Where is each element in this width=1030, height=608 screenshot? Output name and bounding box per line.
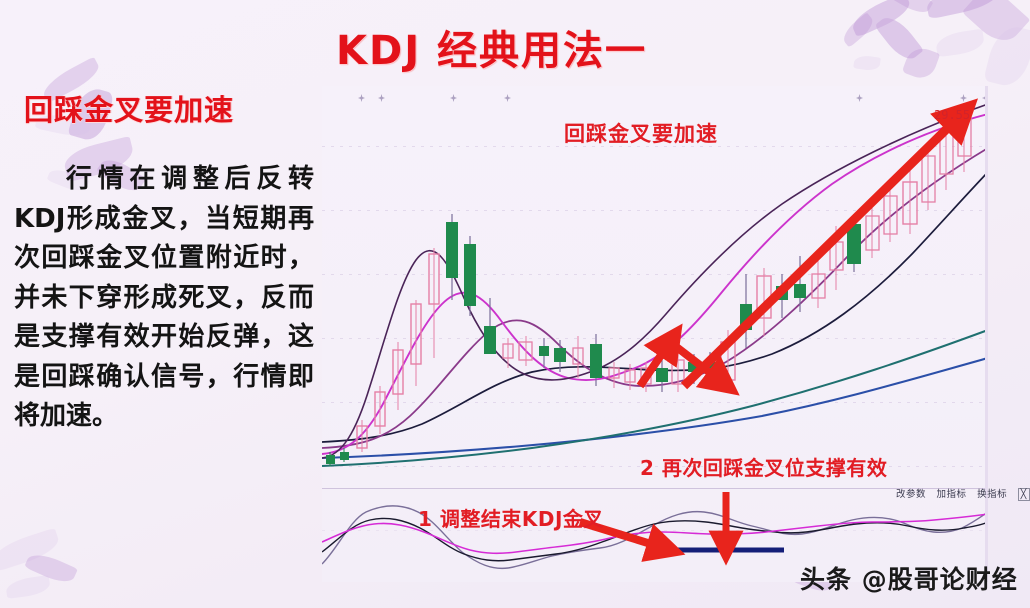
chart-toolbar[interactable]: 改参数 加指标 换指标 ╳	[896, 486, 1030, 500]
slide-root: KDJ 经典用法一 回踩金叉要加速 行情在调整后反转KDJ形成金叉，当短期再次回…	[0, 0, 1030, 608]
headline: 回踩金叉要加速	[24, 95, 314, 127]
watermark: 头条 @股哥论财经	[800, 560, 1018, 596]
annotation-1-label: 1 调整结束KDJ金叉	[418, 503, 604, 532]
pane-divider	[322, 488, 988, 489]
ma-line-ma30	[322, 172, 988, 442]
body-paragraph: 行情在调整后反转KDJ形成金叉，当短期再次回踩金叉位置附近时，并未下穿形成死叉，…	[14, 160, 314, 437]
floral-decoration-topright	[840, 0, 1030, 96]
page-title: KDJ 经典用法一	[336, 18, 647, 76]
ma-line-ma60	[322, 330, 988, 466]
change-params-button[interactable]: 改参数	[896, 489, 926, 500]
ma-line-ma20	[322, 148, 988, 448]
chart-right-rail[interactable]	[985, 86, 988, 582]
add-indicator-button[interactable]: 加指标	[937, 489, 967, 500]
switch-indicator-button[interactable]: 换指标	[977, 489, 1007, 500]
last-price-label: 29.55	[934, 108, 970, 122]
left-text-panel: 回踩金叉要加速 行情在调整后反转KDJ形成金叉，当短期再次回踩金叉位置附近时，并…	[0, 0, 318, 608]
chart-note-label: 回踩金叉要加速	[564, 118, 718, 148]
ma-line-ma120	[322, 358, 988, 458]
close-icon[interactable]: ╳	[1018, 488, 1030, 501]
candle-group-top	[446, 214, 476, 316]
annotation-2-label: 2 再次回踩金叉位支撑有效	[640, 452, 887, 481]
